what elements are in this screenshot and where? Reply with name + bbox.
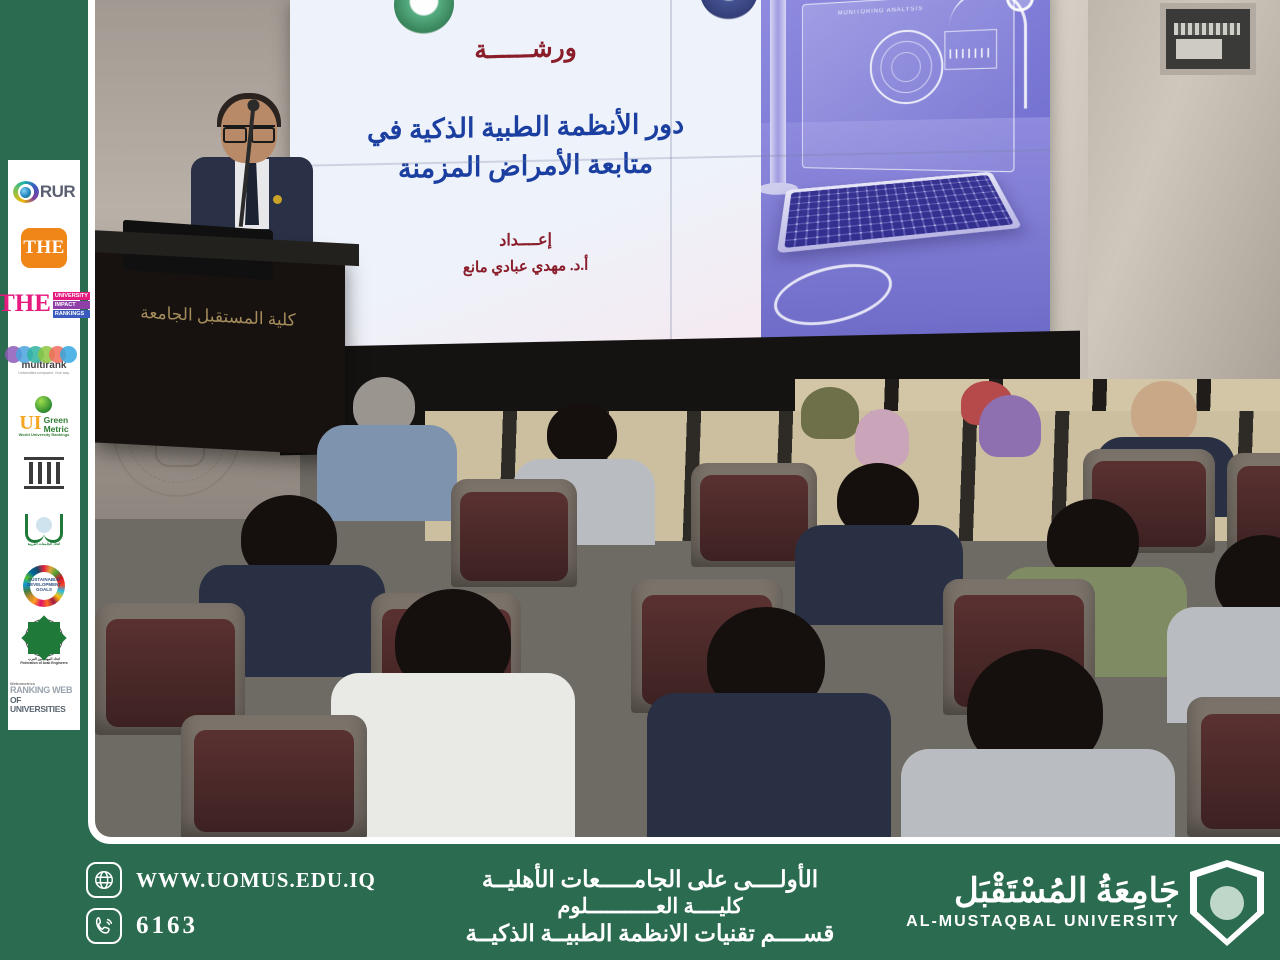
footer-arabic-block: الأولــــى على الجامـــــعات الأهليــة ك… (400, 866, 900, 948)
audience-head (801, 387, 859, 439)
phone-row[interactable]: 6163 (86, 908, 376, 944)
med-panel-label: MONITORING ANALYSIS (838, 7, 923, 18)
badge-fae-caption-en: Federation of Arab Engineers (20, 661, 67, 665)
audience-shoulders (795, 525, 963, 625)
badge-times-higher-education: THE (10, 222, 78, 274)
badge-rur-label: RUR (40, 182, 75, 202)
auditorium-seat (181, 715, 367, 837)
badge-impact-line1: UNIVERSITY (53, 292, 90, 300)
audience-head (547, 403, 617, 465)
badge-impact-line2: IMPACT (53, 301, 90, 309)
medical-technology-image: MONITORING ANALYSIS (761, 0, 1050, 345)
med-dial-icon (870, 28, 944, 104)
wreath-icon (24, 512, 64, 542)
event-photo-frame: ورشــــــة دور الأنظمة الطبية الذكية في … (88, 0, 1280, 844)
badge-multirank-sub: Universities compared. Your way. (18, 371, 70, 375)
audience-head (855, 409, 909, 467)
badge-association-of-arab-universities: اتحاد الجامعات العربية (10, 503, 78, 555)
badge-the-impact-label: THE (0, 293, 51, 316)
university-logo-green-icon (394, 0, 454, 35)
screen-seam-vertical (670, 0, 672, 347)
audience-shoulders (901, 749, 1175, 837)
audience-head (979, 395, 1041, 457)
badge-rur: RUR (10, 166, 78, 218)
university-logo-navy-icon (700, 0, 758, 20)
arab-engineers-star-icon (25, 619, 63, 657)
badge-the-label: THE (21, 228, 67, 268)
audience-shoulders (331, 673, 575, 837)
sdg-wheel-icon: SUSTAINABLE DEVELOPMENT GOALS (23, 565, 65, 607)
badge-federation-of-arab-engineers: اتحاد المهندسين العرب Federation of Arab… (10, 616, 78, 668)
footer-college: كليــــة العـــــــــــلوم (400, 894, 900, 920)
badge-sustainable-development-goals: SUSTAINABLE DEVELOPMENT GOALS (10, 559, 78, 611)
badge-pillars-emblem (10, 447, 78, 499)
website-url: WWW.UOMUS.EDU.IQ (136, 868, 376, 893)
stethoscope-icon (949, 0, 1027, 110)
contact-block: WWW.UOMUS.EDU.IQ 6163 (86, 862, 376, 944)
multirank-dots-icon (11, 346, 77, 363)
slide-workshop-label: ورشــــــة (316, 30, 735, 69)
phone-number: 6163 (136, 912, 198, 940)
event-photograph: ورشــــــة دور الأنظمة الطبية الذكية في … (95, 0, 1280, 837)
med-iv-pole (770, 0, 786, 187)
slide-author: أ.د. مهدي عبادي مانع (316, 253, 735, 281)
auditorium-seat (451, 479, 577, 587)
footer-tagline: الأولــــى على الجامـــــعات الأهليــة (400, 866, 900, 894)
badge-greenmetric-ui: UI (19, 413, 41, 433)
rur-eye-icon (13, 181, 39, 203)
audience-shoulders (317, 425, 457, 521)
badge-impact-line3: RANKINGS (53, 310, 90, 318)
globe-icon (86, 862, 122, 898)
audience-head (1131, 381, 1197, 445)
podium-calligraphy: كلية المستقبل الجامعة (107, 301, 329, 333)
presentation-slide: ورشــــــة دور الأنظمة الطبية الذكية في … (290, 0, 761, 355)
badge-ui-greenmetric: UI Green Metric World University Ranking… (10, 391, 78, 443)
university-brand: جَامِعَةُ المُسْتَقْبَل AL-MUSTAQBAL UNI… (906, 860, 1264, 946)
pillars-icon (24, 457, 64, 489)
greenmetric-globe-icon (35, 396, 52, 413)
badge-the-impact-rankings: THE UNIVERSITY IMPACT RANKINGS (10, 278, 78, 330)
phone-icon (86, 908, 122, 944)
footer-department: قســــم تقنيات الانظمة الطبيــة الذكيــة (400, 920, 900, 948)
brand-name-arabic: جَامِعَةُ المُسْتَقْبَل (954, 875, 1180, 909)
speaker-lapel-pin (273, 195, 282, 204)
badge-webometrics: Webometrics RANKING WEB OF UNIVERSITIES (10, 672, 78, 724)
badge-sdg-label: SUSTAINABLE DEVELOPMENT GOALS (23, 565, 65, 607)
audience-shoulders (647, 693, 891, 837)
brand-name-english: AL-MUSTAQBAL UNIVERSITY (906, 913, 1180, 931)
page-footer: WWW.UOMUS.EDU.IQ 6163 الأولــــى على الج… (0, 850, 1280, 960)
rankings-badge-rail: RUR THE THE UNIVERSITY IMPACT RANKINGS m… (8, 160, 80, 730)
projection-screen: ورشــــــة دور الأنظمة الطبية الذكية في … (290, 0, 1050, 355)
slide-prepared-label: إعــــداد (316, 226, 735, 255)
badge-greenmetric-sub: World University Rankings (19, 433, 70, 437)
university-shield-logo-icon (1190, 860, 1264, 946)
website-row[interactable]: WWW.UOMUS.EDU.IQ (86, 862, 376, 898)
audience-seating (95, 367, 1280, 837)
electrical-panel (1160, 3, 1256, 75)
badge-u-multirank: multirank Universities compared. Your wa… (10, 335, 78, 387)
badge-webometrics-line3: OF UNIVERSITIES (10, 696, 78, 714)
auditorium-seat (1187, 697, 1280, 837)
